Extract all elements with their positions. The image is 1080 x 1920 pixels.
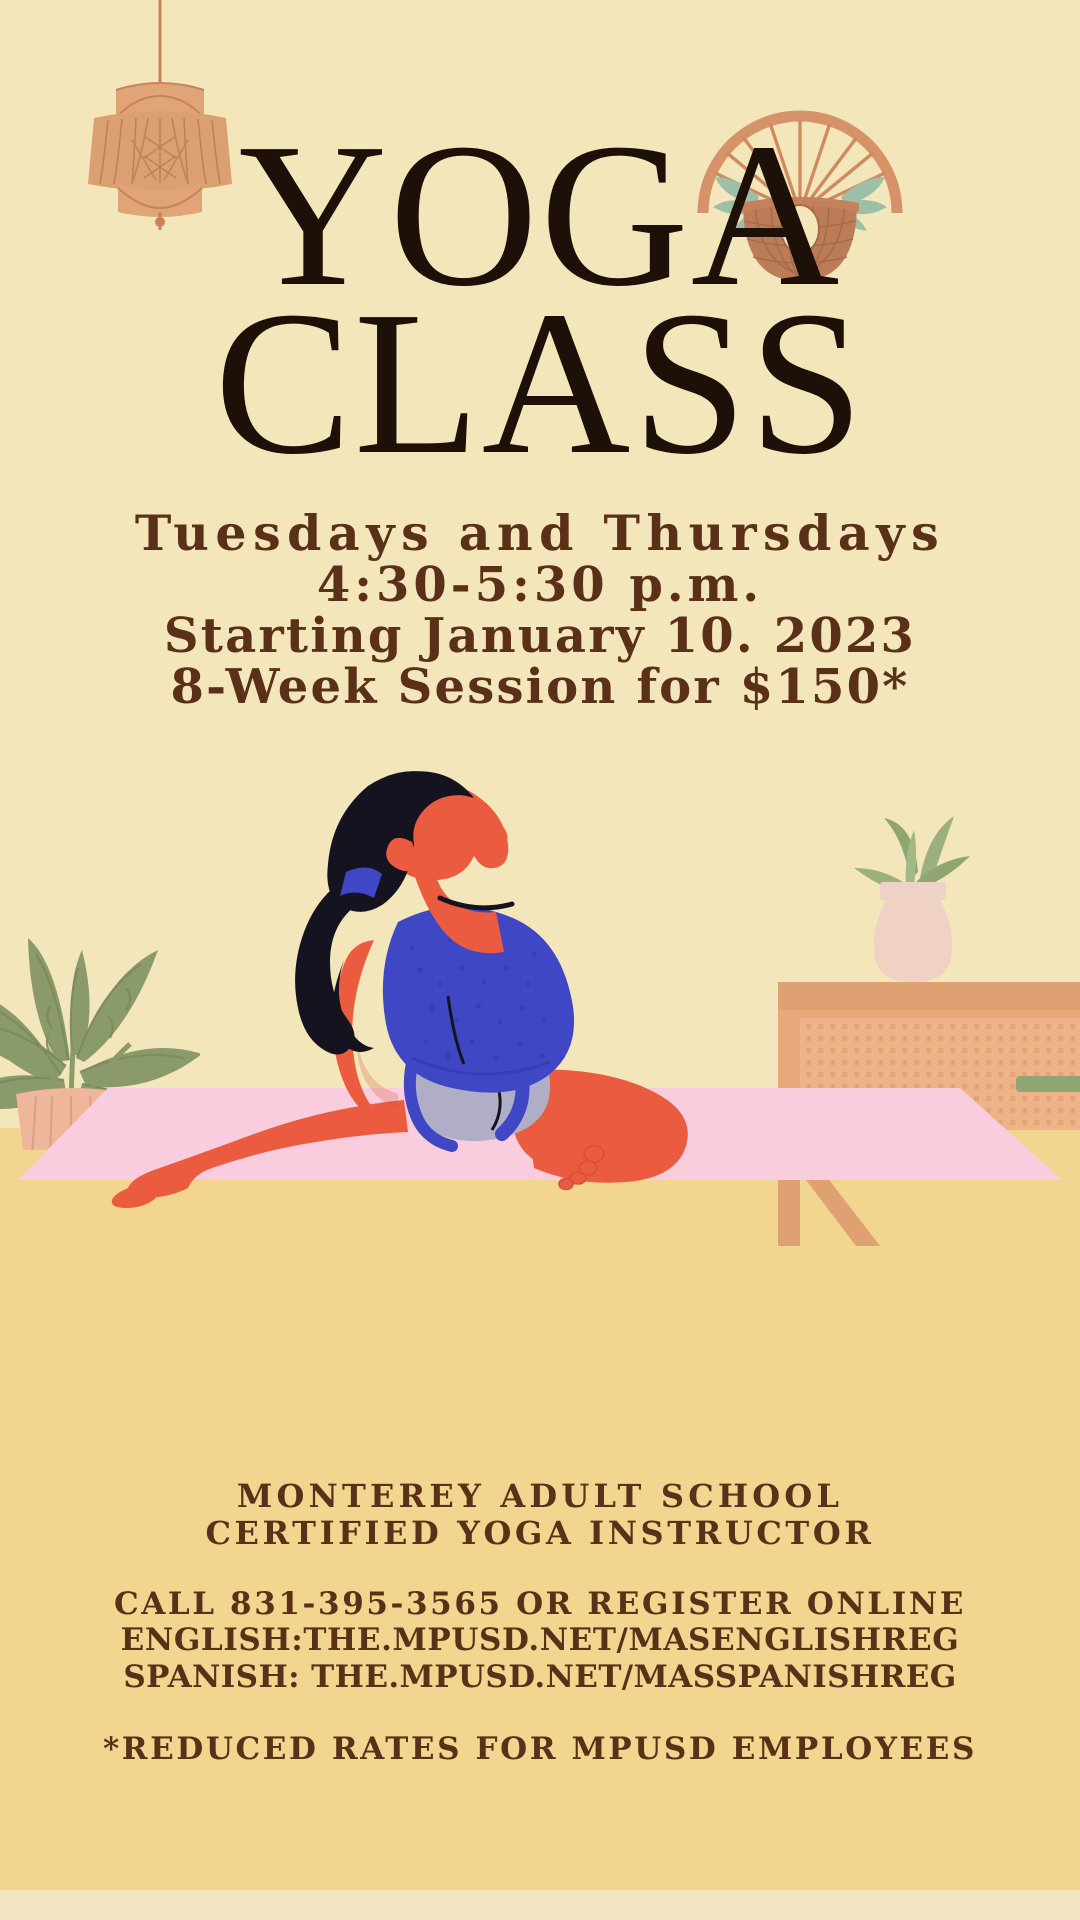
contact-group: CALL 831-395-3565 OR REGISTER ONLINE ENG… (0, 1586, 1080, 1695)
footer-details: MONTEREY ADULT SCHOOL CERTIFIED YOGA INS… (0, 1478, 1080, 1767)
organization-name: MONTEREY ADULT SCHOOL (0, 1478, 1080, 1515)
contact-phone: CALL 831-395-3565 OR REGISTER ONLINE (0, 1586, 1080, 1622)
registration-link-spanish[interactable]: SPANISH: THE.MPUSD.NET/MASSPANISHREG (0, 1659, 1080, 1695)
schedule-time: 4:30-5:30 p.m. (0, 560, 1080, 611)
schedule-days: Tuesdays and Thursdays (0, 508, 1080, 560)
instructor-credential: CERTIFIED YOGA INSTRUCTOR (0, 1515, 1080, 1552)
registration-link-english[interactable]: ENGLISH:THE.MPUSD.NET/MASENGLISHREG (0, 1622, 1080, 1658)
schedule-start-date: Starting January 10. 2023 (0, 611, 1080, 662)
yoga-figure-illustration (0, 770, 1080, 1220)
yoga-class-poster: YOGA CLASS Tuesdays and Thursdays 4:30-5… (0, 0, 1080, 1920)
title-line-class: CLASS (0, 288, 1080, 478)
footnote-reduced-rates: *REDUCED RATES FOR MPUSD EMPLOYEES (0, 1731, 1080, 1767)
schedule-details: Tuesdays and Thursdays 4:30-5:30 p.m. St… (0, 508, 1080, 713)
page-title: YOGA CLASS (0, 120, 1080, 477)
poster-bottom-strip (0, 1890, 1080, 1920)
schedule-price: 8-Week Session for $150* (0, 662, 1080, 713)
